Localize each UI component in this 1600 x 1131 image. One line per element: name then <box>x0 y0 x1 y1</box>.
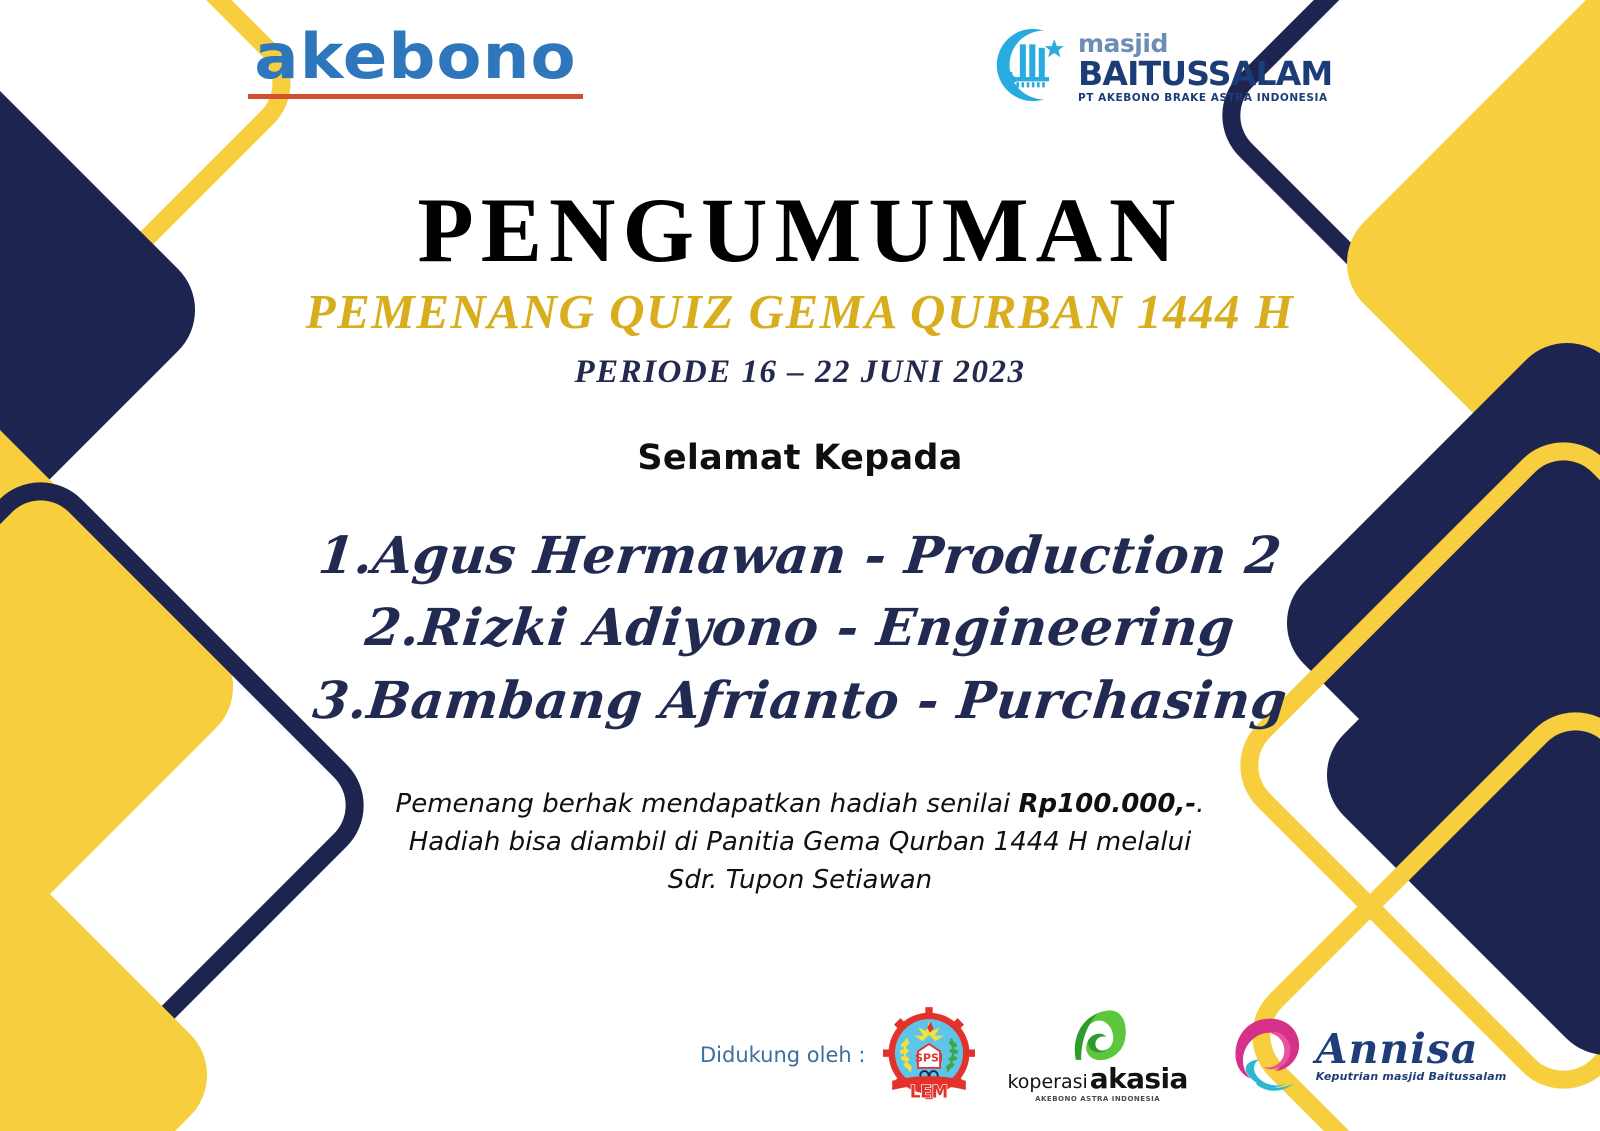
green-leaf-icon <box>1067 1008 1129 1064</box>
masjid-logo-line2: BAITUSSALAM <box>1078 57 1332 90</box>
spsi-lem-emblem-icon: SPSI LEM <box>883 1007 975 1103</box>
masjid-logo-line1: masjid <box>1078 31 1332 56</box>
list-item: 3.Bambang Afrianto - Purchasing <box>0 665 1600 737</box>
svg-text:SPSI: SPSI <box>915 1051 943 1064</box>
svg-text:LEM: LEM <box>910 1082 948 1101</box>
annisa-logo: Annisa Keputrian masjid Baitussalam <box>1228 1013 1507 1097</box>
prize-amount: Rp100.000,- <box>1018 789 1196 819</box>
koperasi-akasia-logo: koperasi akasia AKEBONO ASTRA INDONESIA <box>1007 1008 1187 1103</box>
list-item: 1.Agus Hermawan - Production 2 <box>0 520 1600 592</box>
akebono-logo: akebono <box>248 26 583 99</box>
prize-note-line-3: Sdr. Tupon Setiawan <box>0 862 1600 900</box>
prize-note: Pemenang berhak mendapatkan hadiah senil… <box>0 786 1600 900</box>
akebono-underline <box>248 94 583 99</box>
akasia-word-akasia: akasia <box>1090 1065 1188 1093</box>
prize-note-prefix: Pemenang berhak mendapatkan hadiah senil… <box>396 789 1019 819</box>
prize-note-line-1: Pemenang berhak mendapatkan hadiah senil… <box>0 786 1600 824</box>
akasia-word-koperasi: koperasi <box>1007 1073 1087 1092</box>
akasia-tagline: AKEBONO ASTRA INDONESIA <box>1035 1095 1160 1103</box>
masjid-logo-line3: PT AKEBONO BRAKE ASTRA INDONESIA <box>1078 93 1332 104</box>
page-subtitle: PEMENANG QUIZ GEMA QURBAN 1444 H <box>0 285 1600 339</box>
supported-by-label: Didukung oleh : <box>700 1043 865 1067</box>
title-block: PENGUMUMAN PEMENANG QUIZ GEMA QURBAN 144… <box>0 182 1600 391</box>
crescent-mosque-icon <box>982 22 1068 108</box>
page-title: PENGUMUMAN <box>0 182 1600 279</box>
masjid-logo-text: masjid BAITUSSALAM PT AKEBONO BRAKE ASTR… <box>1078 27 1332 104</box>
list-item: 2.Rizki Adiyono - Engineering <box>0 592 1600 664</box>
akasia-wordmark: koperasi akasia <box>1007 1065 1187 1093</box>
prize-note-suffix: . <box>1196 789 1204 819</box>
prize-note-line-2: Hadiah bisa diambil di Panitia Gema Qurb… <box>0 824 1600 862</box>
hijab-swirl-icon <box>1228 1013 1312 1097</box>
winners-list: 1.Agus Hermawan - Production 2 2.Rizki A… <box>0 520 1600 737</box>
announcement-poster: akebono masjid BAITUSSALAM PT AKEBONO BR… <box>0 0 1600 1131</box>
annisa-tagline: Keputrian masjid Baitussalam <box>1316 1071 1507 1082</box>
annisa-name: Annisa <box>1316 1029 1507 1070</box>
akebono-wordmark: akebono <box>238 26 593 88</box>
masjid-baitussalam-logo: masjid BAITUSSALAM PT AKEBONO BRAKE ASTR… <box>982 22 1332 108</box>
congratulations-heading: Selamat Kepada <box>0 438 1600 478</box>
annisa-wordmark: Annisa Keputrian masjid Baitussalam <box>1316 1029 1507 1082</box>
sponsors-footer: Didukung oleh : <box>700 1000 1400 1110</box>
period-text: PERIODE 16 – 22 JUNI 2023 <box>0 354 1600 391</box>
